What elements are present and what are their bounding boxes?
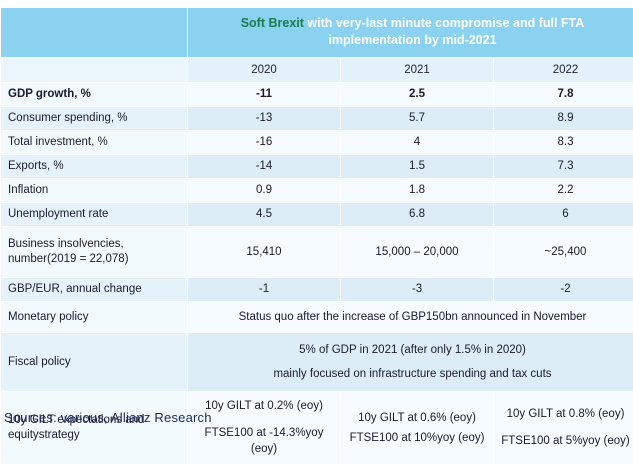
cell-unemployment-rate-2022: 6 xyxy=(494,203,633,226)
year-header-row: 2020 2021 2022 xyxy=(1,58,633,82)
cell-monetary-policy-text: Status quo after the increase of GBP150b… xyxy=(188,302,633,332)
table-row: 10y GILT expectations and equitystrategy… xyxy=(1,392,633,464)
cell-exports-2022: 7.3 xyxy=(494,155,633,178)
cell-unemployment-rate-2021: 6.8 xyxy=(341,203,493,226)
ftse-value-2020: FTSE100 at -14.3%yoy (eoy) xyxy=(192,425,336,457)
row-label-inflation: Inflation xyxy=(1,179,187,202)
row-label-total-investment: Total investment, % xyxy=(1,131,187,154)
cell-gbp-eur-2020: -1 xyxy=(188,278,340,301)
cell-total-investment-2020: -16 xyxy=(188,131,340,154)
cell-gdp-growth-2021: 2.5 xyxy=(341,83,493,106)
cell-inflation-2021: 1.8 xyxy=(341,179,493,202)
header-corner-blank xyxy=(1,8,187,57)
ftse-value-2021: FTSE100 at 10%yoy (eoy) xyxy=(345,430,489,446)
table-row: GDP growth, % -11 2.5 7.8 xyxy=(1,83,633,106)
table-header-row: Soft Brexit with very-last minute compro… xyxy=(1,8,633,57)
cell-gdp-growth-2020: -11 xyxy=(188,83,340,106)
cell-gbp-eur-2021: -3 xyxy=(341,278,493,301)
gilt-label-line2: strategy xyxy=(39,429,80,441)
row-label-gdp-growth: GDP growth, % xyxy=(1,83,187,106)
cell-inflation-2022: 2.2 xyxy=(494,179,633,202)
cell-fiscal-policy-text: 5% of GDP in 2021 (after only 1.5% in 20… xyxy=(188,333,633,391)
cell-business-insolvencies-2020: 15,410 xyxy=(188,227,340,277)
row-label-consumer-spending: Consumer spending, % xyxy=(1,107,187,130)
source-note: Sources: various, Allianz Research xyxy=(4,410,212,425)
cell-exports-2020: -14 xyxy=(188,155,340,178)
cell-consumer-spending-2021: 5.7 xyxy=(341,107,493,130)
table-row: Monetary policy Status quo after the inc… xyxy=(1,302,633,332)
table-row: Inflation 0.9 1.8 2.2 xyxy=(1,179,633,202)
fiscal-policy-line1: 5% of GDP in 2021 (after only 1.5% in 20… xyxy=(194,338,631,362)
table-row: Total investment, % -16 4 8.3 xyxy=(1,131,633,154)
scenario-rest-text: with very-last minute compromise and ful… xyxy=(304,16,584,47)
cell-gdp-growth-2022: 7.8 xyxy=(494,83,633,106)
cell-gbp-eur-2022: -2 xyxy=(494,278,633,301)
brexit-scenario-table: Soft Brexit with very-last minute compro… xyxy=(0,7,633,465)
fiscal-policy-line2: mainly focused on infrastructure spendin… xyxy=(194,362,631,386)
column-header-2020: 2020 xyxy=(188,58,340,82)
table-row: Business insolvencies, number(2019 = 22,… xyxy=(1,227,633,277)
row-label-business-insolvencies: Business insolvencies, number(2019 = 22,… xyxy=(1,227,187,277)
row-label-gilt-expectations: 10y GILT expectations and equitystrategy xyxy=(1,392,187,464)
row-label-exports: Exports, % xyxy=(1,155,187,178)
insolvency-label-line2: (2019 = 22,078) xyxy=(47,253,129,265)
table-row: Exports, % -14 1.5 7.3 xyxy=(1,155,633,178)
gilt-value-2021: 10y GILT at 0.6% (eoy) xyxy=(345,410,489,426)
row-label-monetary-policy: Monetary policy xyxy=(1,302,187,332)
cell-gilt-2021: 10y GILT at 0.6% (eoy)FTSE100 at 10%yoy … xyxy=(341,392,493,464)
scenario-highlight-text: Soft Brexit xyxy=(241,16,304,30)
cell-exports-2021: 1.5 xyxy=(341,155,493,178)
row-label-unemployment-rate: Unemployment rate xyxy=(1,203,187,226)
cell-unemployment-rate-2020: 4.5 xyxy=(188,203,340,226)
year-row-blank xyxy=(1,58,187,82)
gilt-value-2020: 10y GILT at 0.2% (eoy) xyxy=(192,398,336,414)
table-row: Fiscal policy 5% of GDP in 2021 (after o… xyxy=(1,333,633,391)
column-header-2022: 2022 xyxy=(494,58,633,82)
cell-gilt-2022: 10y GILT at 0.8% (eoy)FTSE100 at 5%yoy (… xyxy=(494,392,633,464)
ftse-value-2022: FTSE100 at 5%yoy (eoy) xyxy=(498,433,633,449)
cell-consumer-spending-2022: 8.9 xyxy=(494,107,633,130)
row-label-gbp-eur: GBP/EUR, annual change xyxy=(1,278,187,301)
table-row: GBP/EUR, annual change -1 -3 -2 xyxy=(1,278,633,301)
cell-business-insolvencies-2022: ~25,400 xyxy=(494,227,633,277)
scenario-table-page: Soft Brexit with very-last minute compro… xyxy=(0,0,633,424)
scenario-title: Soft Brexit with very-last minute compro… xyxy=(188,8,633,57)
table-row: Consumer spending, % -13 5.7 8.9 xyxy=(1,107,633,130)
column-header-2021: 2021 xyxy=(341,58,493,82)
table-row: Unemployment rate 4.5 6.8 6 xyxy=(1,203,633,226)
cell-total-investment-2022: 8.3 xyxy=(494,131,633,154)
cell-gilt-2020: 10y GILT at 0.2% (eoy)FTSE100 at -14.3%y… xyxy=(188,392,340,464)
cell-inflation-2020: 0.9 xyxy=(188,179,340,202)
gilt-value-2022: 10y GILT at 0.8% (eoy) xyxy=(498,406,633,422)
cell-business-insolvencies-2021: 15,000 – 20,000 xyxy=(341,227,493,277)
cell-total-investment-2021: 4 xyxy=(341,131,493,154)
cell-consumer-spending-2020: -13 xyxy=(188,107,340,130)
row-label-fiscal-policy: Fiscal policy xyxy=(1,333,187,391)
